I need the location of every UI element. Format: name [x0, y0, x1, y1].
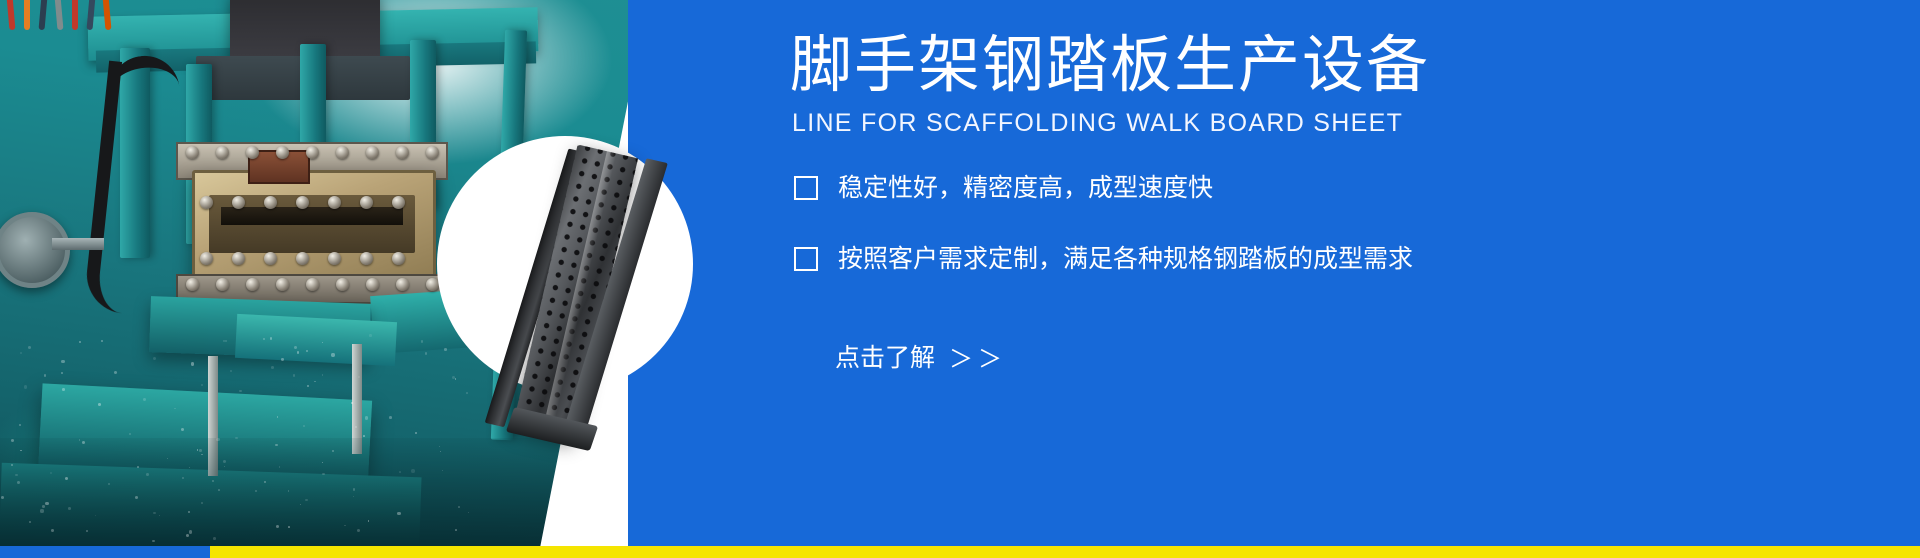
- machine-speckle: [40, 509, 43, 512]
- machine-speckle: [146, 473, 149, 476]
- machine-speckle: [20, 450, 21, 451]
- machine-speckle: [288, 526, 290, 528]
- machine-cable: [24, 0, 30, 30]
- machine-speckle: [275, 444, 277, 446]
- machine-bolt: [366, 278, 379, 291]
- machine-speckle: [264, 481, 265, 482]
- machine-speckle: [15, 474, 18, 477]
- machine-speckle: [271, 366, 274, 369]
- machine-bolt: [296, 252, 309, 265]
- machine-speckle: [65, 477, 68, 480]
- machine-speckle: [218, 489, 220, 491]
- square-bullet-icon: [794, 247, 818, 271]
- machine-bolt: [186, 146, 199, 159]
- machine-bolt: [246, 278, 259, 291]
- banner-copy: 脚手架钢踏板生产设备 LINE FOR SCAFFOLDING WALK BOA…: [790, 0, 1890, 558]
- learn-more-link[interactable]: 点击了解 ＞＞: [835, 338, 1007, 374]
- feature-item: 稳定性好，精密度高，成型速度快: [794, 172, 1213, 205]
- machine-speckle: [61, 372, 63, 374]
- machine-bolt: [426, 146, 439, 159]
- machine-speckle: [86, 530, 88, 532]
- machine-speckle: [281, 358, 283, 360]
- machine-speckle: [351, 402, 352, 403]
- machine-bolt: [200, 252, 213, 265]
- machine-speckle: [277, 416, 278, 417]
- machine-bolt: [328, 252, 341, 265]
- machine-speckle: [297, 351, 300, 354]
- machine-bolt: [264, 252, 277, 265]
- machine-bolt: [396, 278, 409, 291]
- machine-bolt: [336, 146, 349, 159]
- bottom-accent-bar-left-gap: [0, 546, 210, 558]
- machine-speckle: [458, 506, 460, 508]
- feature-item: 按照客户需求定制，满足各种规格钢踏板的成型需求: [794, 243, 1413, 276]
- machine-floor-shadow: [0, 438, 720, 558]
- machine-bolt: [306, 278, 319, 291]
- feature-item-label: 按照客户需求定制，满足各种规格钢踏板的成型需求: [838, 243, 1413, 276]
- machine-speckle: [365, 416, 368, 419]
- machine-speckle: [399, 471, 401, 473]
- machine-die-slot: [221, 207, 403, 225]
- machine-bolt: [276, 146, 289, 159]
- machine-forming-die: [192, 170, 436, 288]
- machine-base-block: [235, 314, 397, 366]
- machine-speckle: [239, 390, 241, 392]
- machine-speckle: [51, 529, 54, 532]
- machine-cable: [72, 0, 78, 30]
- machine-speckle: [363, 435, 365, 437]
- machine-speckle: [466, 392, 468, 394]
- machine-speckle: [101, 340, 103, 342]
- machine-speckle: [444, 348, 446, 350]
- machine-bolt: [246, 146, 259, 159]
- machine-bolt: [360, 196, 373, 209]
- machine-speckle: [129, 433, 131, 435]
- machine-speckle: [153, 512, 155, 514]
- machine-bolt: [392, 196, 405, 209]
- machine-speckle: [199, 449, 202, 452]
- machine-bolt: [264, 196, 277, 209]
- machine-speckle: [331, 353, 334, 356]
- machine-speckle: [213, 537, 216, 540]
- machine-bolt: [306, 146, 319, 159]
- machine-speckle: [201, 502, 203, 504]
- machine-bolt: [232, 196, 245, 209]
- machine-speckle: [230, 370, 232, 372]
- machine-bolt: [328, 196, 341, 209]
- machine-speckle: [135, 496, 138, 499]
- machine-speckle: [303, 425, 305, 427]
- machine-speckle: [61, 360, 65, 364]
- machine-speckle: [42, 505, 45, 508]
- page-title: 脚手架钢踏板生产设备: [790, 33, 1430, 98]
- machine-speckle: [353, 488, 355, 490]
- machine-speckle: [174, 408, 175, 409]
- bottom-accent-bar: [0, 546, 1920, 558]
- machine-speckle: [186, 534, 189, 537]
- machine-bolt: [216, 278, 229, 291]
- machine-bolt: [336, 278, 349, 291]
- square-bullet-icon: [794, 176, 818, 200]
- machine-handwheel-shaft: [52, 238, 104, 250]
- double-chevron-right-icon: ＞＞: [949, 339, 1007, 374]
- machine-speckle: [421, 340, 423, 342]
- learn-more-label: 点击了解: [835, 338, 935, 374]
- machine-speckle: [411, 469, 415, 473]
- machine-speckle: [344, 525, 346, 527]
- machine-speckle: [223, 460, 226, 463]
- machine-speckle: [68, 507, 71, 510]
- machine-bolt: [186, 278, 199, 291]
- machine-bolt: [396, 146, 409, 159]
- machine-speckle: [137, 466, 139, 468]
- machine-speckle: [201, 454, 202, 455]
- machine-speckle: [255, 490, 257, 492]
- machine-bolt: [360, 252, 373, 265]
- machine-speckle: [45, 502, 49, 506]
- machine-speckle: [397, 512, 400, 515]
- machine-speckle: [181, 428, 184, 431]
- machine-bolt: [276, 278, 289, 291]
- machine-speckle: [305, 499, 308, 502]
- machine-bolt: [232, 252, 245, 265]
- feature-item-label: 稳定性好，精密度高，成型速度快: [838, 172, 1213, 205]
- machine-bolt: [216, 146, 229, 159]
- machine-speckle: [455, 529, 457, 531]
- machine-speckle: [98, 403, 101, 406]
- machine-bolt: [366, 146, 379, 159]
- machine-speckle: [455, 378, 457, 380]
- machine-bolt: [296, 196, 309, 209]
- machine-speckle: [62, 388, 65, 391]
- machine-speckle: [19, 424, 20, 425]
- machine-bolt: [200, 196, 213, 209]
- machine-speckle: [79, 439, 81, 441]
- page-subtitle: LINE FOR SCAFFOLDING WALK BOARD SHEET: [792, 108, 1403, 138]
- machine-speckle: [440, 451, 441, 452]
- machine-speckle: [425, 352, 427, 354]
- machine-speckle: [369, 334, 372, 337]
- machine-speckle: [191, 362, 194, 365]
- machine-speckle: [20, 352, 22, 354]
- machine-speckle: [293, 374, 295, 376]
- machine-bolt: [392, 252, 405, 265]
- promo-banner: 脚手架钢踏板生产设备 LINE FOR SCAFFOLDING WALK BOA…: [0, 0, 1920, 558]
